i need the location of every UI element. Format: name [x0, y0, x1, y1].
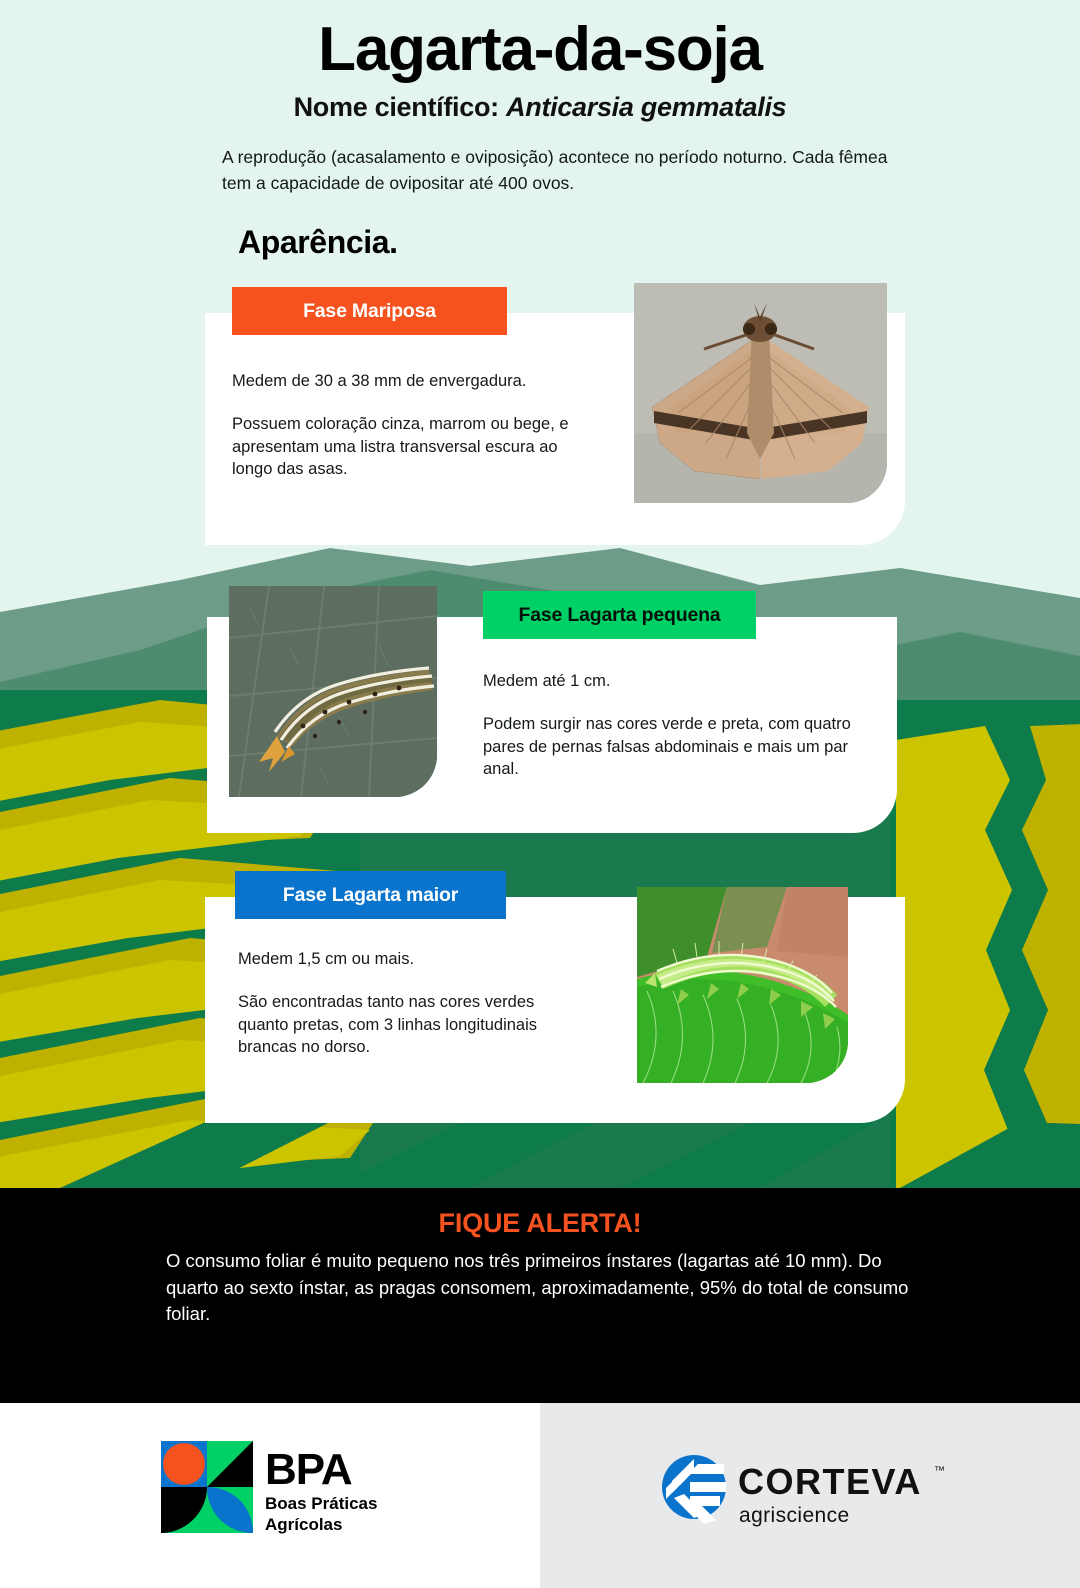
corteva-trademark: ™: [934, 1465, 945, 1477]
badge-fase-lagarta-maior[interactable]: Fase Lagarta maior: [235, 871, 506, 919]
card-text-fase-lagarta-pequena: Medem até 1 cm. Podem surgir nas cores v…: [483, 670, 853, 781]
card-paragraph: Medem até 1 cm.: [483, 670, 853, 693]
corteva-logo-mark: [662, 1455, 726, 1524]
bpa-line2: Agrícolas: [265, 1515, 342, 1534]
appearance-heading: Aparência.: [238, 224, 398, 261]
card-paragraph: São encontradas tanto nas cores verdes q…: [238, 991, 568, 1059]
card-text-fase-lagarta-maior: Medem 1,5 cm ou mais. São encontradas ta…: [238, 948, 568, 1059]
scientific-name: Anticarsia gemmatalis: [506, 92, 786, 122]
card-paragraph: Podem surgir nas cores verde e preta, co…: [483, 713, 853, 781]
badge-fase-mariposa[interactable]: Fase Mariposa: [232, 287, 507, 335]
corteva-logo: CORTEVA ™ agriscience: [660, 1452, 960, 1534]
infographic-page: Lagarta-da-soja Nome científico: Anticar…: [0, 0, 1080, 1588]
page-header: Lagarta-da-soja Nome científico: Anticar…: [0, 0, 1080, 196]
badge-fase-lagarta-pequena[interactable]: Fase Lagarta pequena: [483, 591, 756, 639]
card-text-fase-mariposa: Medem de 30 a 38 mm de envergadura. Poss…: [232, 370, 592, 481]
scientific-name-line: Nome científico: Anticarsia gemmatalis: [0, 92, 1080, 123]
photo-lagarta-pequena: [229, 586, 437, 797]
corteva-wordmark: CORTEVA: [738, 1461, 922, 1502]
corteva-tagline: agriscience: [739, 1504, 850, 1527]
alert-title: FIQUE ALERTA!: [0, 1208, 1080, 1239]
card-paragraph: Medem 1,5 cm ou mais.: [238, 948, 568, 971]
photo-lagarta-maior: [637, 887, 848, 1083]
bpa-acronym: BPA: [265, 1445, 352, 1494]
bpa-line1: Boas Práticas: [265, 1494, 377, 1513]
intro-paragraph: A reprodução (acasalamento e oviposição)…: [190, 145, 890, 196]
crop-field-stripes-right: [890, 700, 1080, 1200]
bpa-logo-mark: [161, 1441, 253, 1533]
alert-body: O consumo foliar é muito pequeno nos trê…: [166, 1248, 936, 1328]
bpa-logo: BPA Boas Práticas Agrícolas: [161, 1437, 391, 1537]
card-paragraph: Possuem coloração cinza, marrom ou bege,…: [232, 413, 592, 481]
photo-mariposa: [634, 283, 887, 503]
page-title: Lagarta-da-soja: [0, 18, 1080, 82]
card-paragraph: Medem de 30 a 38 mm de envergadura.: [232, 370, 592, 393]
scientific-label: Nome científico:: [294, 92, 499, 122]
